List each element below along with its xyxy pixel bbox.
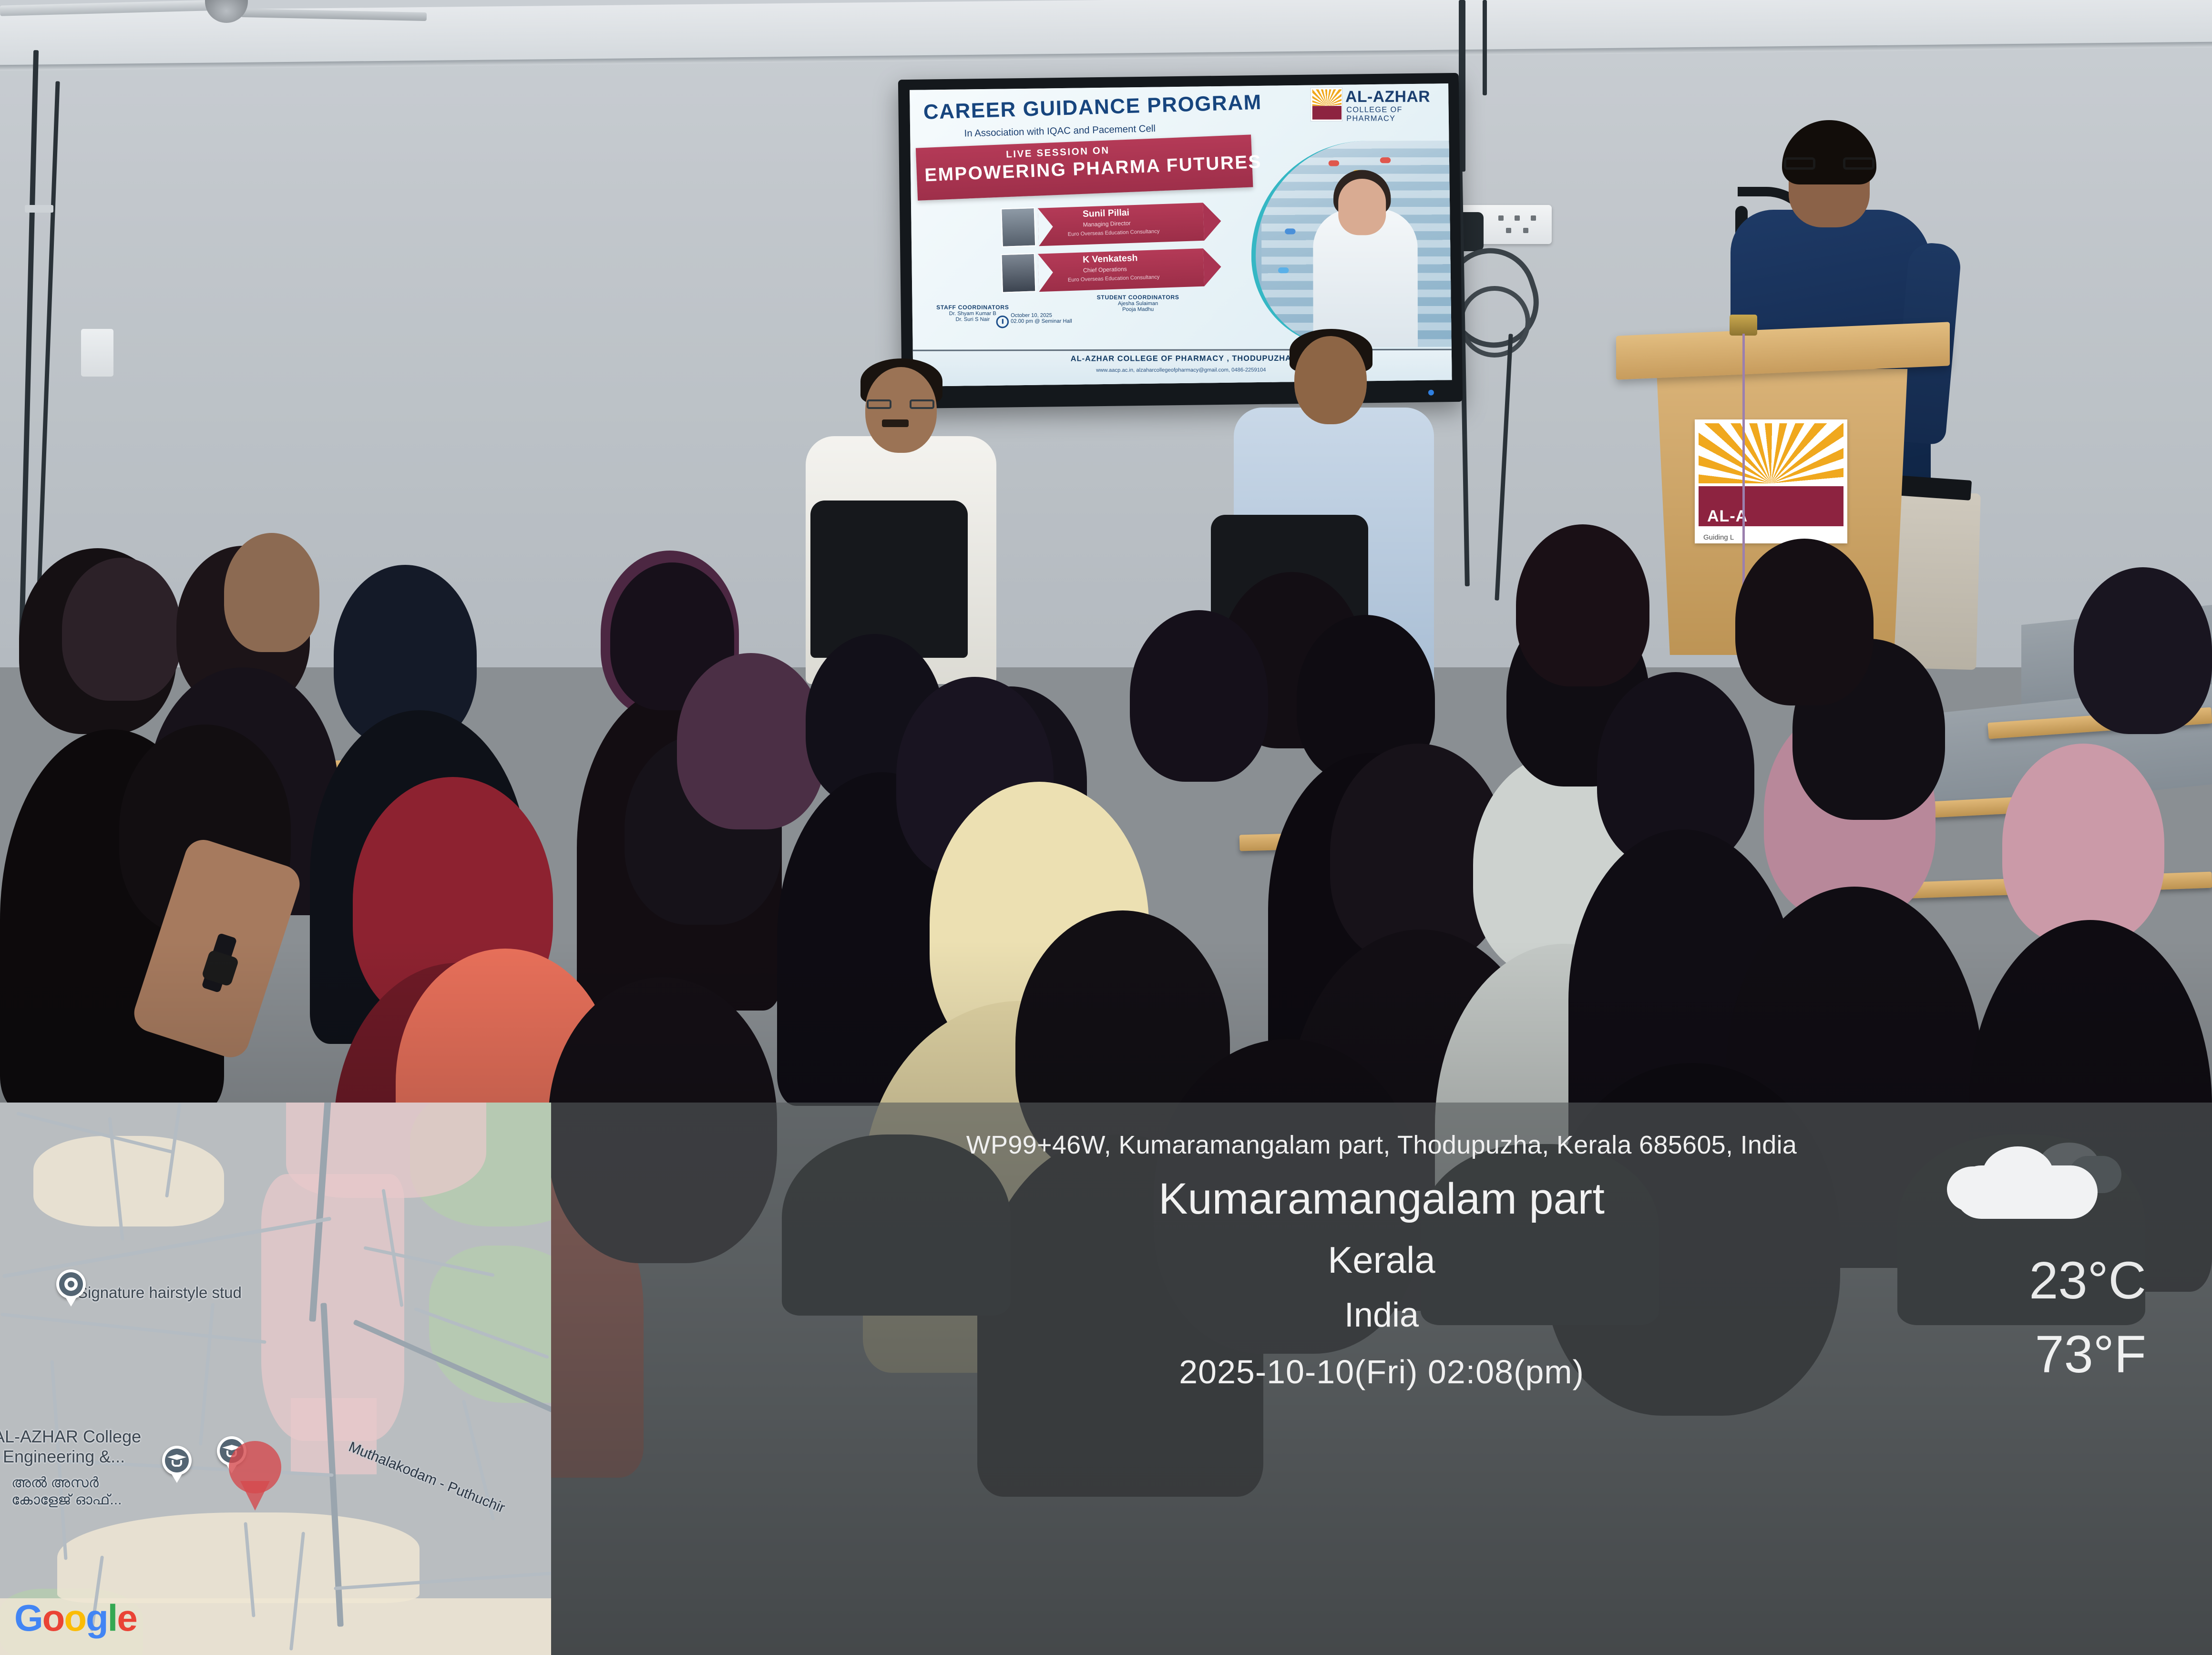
speaker-org: Euro Overseas Education Consultancy (1068, 228, 1160, 237)
temperature-fahrenheit: 73°F (2035, 1324, 2146, 1385)
college-logo: AL-AZHAR COLLEGE OF PHARMACY (1302, 85, 1448, 126)
event-time-venue: 02.00 pm @ Seminar Hall (1011, 318, 1072, 324)
dignitary-head (865, 367, 937, 453)
google-logo-letter: e (117, 1597, 136, 1639)
student-coordinator-name: Ajesha Sulaiman (1097, 301, 1179, 307)
clock-icon (996, 316, 1009, 328)
slide-title-band: LIVE SESSION ON EMPOWERING PHARMA FUTURE… (916, 134, 1253, 200)
screenshot-root: CAREER GUIDANCE PROGRAM In Association w… (0, 0, 2212, 1655)
socket-holes (1498, 215, 1539, 234)
speaker-arrow-1: Sunil Pillai Managing Director Euro Over… (1038, 203, 1204, 246)
audience-member (1130, 610, 1268, 782)
audience-member (1516, 524, 1649, 686)
sunburst-icon (1312, 89, 1342, 106)
display-screen: CAREER GUIDANCE PROGRAM In Association w… (898, 73, 1463, 409)
google-logo-letter: G (14, 1597, 42, 1639)
cable-clip (25, 205, 53, 213)
speaker-role: Managing Director (1083, 220, 1131, 228)
dignitary-moustache (882, 419, 909, 427)
student-coordinators: STUDENT COORDINATORS Ajesha Sulaiman Poo… (1097, 294, 1179, 312)
dignitary-head (1294, 336, 1367, 424)
map-land-area (57, 1512, 420, 1603)
audience-member (677, 653, 825, 829)
speaker-arrow-2: K Venkatesh Chief Operations Euro Overse… (1038, 248, 1204, 292)
state-name: Kerala (551, 1238, 2212, 1282)
country-name: India (551, 1296, 2212, 1335)
map-land-area (33, 1136, 224, 1226)
speaker-photo (1001, 207, 1036, 247)
pharmacist-photo (1251, 141, 1452, 347)
podium-sign: AL-A Guiding L (1695, 419, 1847, 543)
dignitary-glasses (867, 399, 934, 409)
google-logo-letter: o (42, 1597, 64, 1639)
logo-band (1312, 106, 1342, 120)
college-marker[interactable] (162, 1446, 192, 1482)
wall-cable (1459, 0, 1465, 172)
college-logo-subtitle: COLLEGE OF PHARMACY (1346, 106, 1448, 123)
audience-member (224, 533, 319, 652)
audience-member (1735, 539, 1874, 705)
student-coordinators-title: STUDENT COORDINATORS (1097, 294, 1179, 301)
signature-hairstyle-marker[interactable] (56, 1269, 86, 1306)
speaker-photo (1001, 253, 1036, 293)
chair (810, 501, 968, 658)
staff-coordinator-name: Dr. Shyam Kumar B (936, 311, 1009, 317)
presentation-slide: CAREER GUIDANCE PROGRAM In Association w… (910, 83, 1452, 387)
speaker-role: Chief Operations (1083, 266, 1127, 274)
audience-member (2002, 744, 2164, 944)
event-datetime-block: October 10, 2025 02.00 pm @ Seminar Hall (1011, 313, 1072, 325)
college-logo-mark (1311, 87, 1342, 122)
audience-member (62, 558, 181, 701)
sunburst-icon (1699, 423, 1843, 483)
map-label-college: AL-AZHAR College f Engineering &... (0, 1427, 184, 1467)
college-logo-name: AL-AZHAR (1345, 87, 1430, 106)
google-logo: Google (14, 1596, 137, 1640)
map-label-signature: Signature hairstyle stud (77, 1284, 242, 1302)
student-coordinator-name: Pooja Madhu (1097, 306, 1179, 313)
screen-power-led (1428, 390, 1434, 396)
location-info-panel: WP99+46W, Kumaramangalam part, Thodupuzh… (551, 1103, 2212, 1655)
audience-member (2074, 567, 2212, 734)
wall-switch (81, 329, 113, 377)
map-panel[interactable]: Signature hairstyle stud AL-AZHAR Colleg… (0, 1103, 551, 1655)
staff-coordinators-title: STAFF COORDINATORS (936, 304, 1009, 311)
podium-brand: AL-A (1707, 507, 1748, 526)
event-date: October 10, 2025 (1011, 313, 1072, 318)
slide-subtitle: In Association with IQAC and Pacement Ce… (964, 123, 1156, 140)
google-logo-letter: l (108, 1597, 117, 1639)
datetime-stamp: 2025-10-10(Fri) 02:08(pm) (551, 1353, 2212, 1391)
microphone-base (1730, 315, 1757, 336)
current-location-pin[interactable] (229, 1441, 281, 1511)
google-logo-letter: g (86, 1597, 108, 1639)
slide-title: CAREER GUIDANCE PROGRAM (923, 91, 1262, 124)
pharmacist-head (1338, 179, 1386, 235)
google-logo-letter: o (64, 1597, 86, 1639)
gps-map-camera-overlay: Signature hairstyle stud AL-AZHAR Colleg… (0, 1103, 2212, 1655)
map-label-college-malayalam: അൽ അസർ കോളേജ് ഓഫ്... (11, 1474, 122, 1509)
speaker-org: Euro Overseas Education Consultancy (1068, 274, 1160, 283)
presenter-glasses (1784, 157, 1874, 170)
speaker-name: Sunil Pillai (1083, 207, 1130, 220)
podium-tagline: Guiding L (1703, 533, 1734, 541)
screen-surface: CAREER GUIDANCE PROGRAM In Association w… (910, 83, 1452, 387)
temperature-celsius: 23°C (2029, 1250, 2146, 1311)
podium-sign-band: AL-A (1699, 486, 1843, 526)
wall-cable (1483, 0, 1487, 95)
cloudy-icon (1926, 1142, 2126, 1242)
speaker-name: K Venkatesh (1083, 253, 1138, 266)
